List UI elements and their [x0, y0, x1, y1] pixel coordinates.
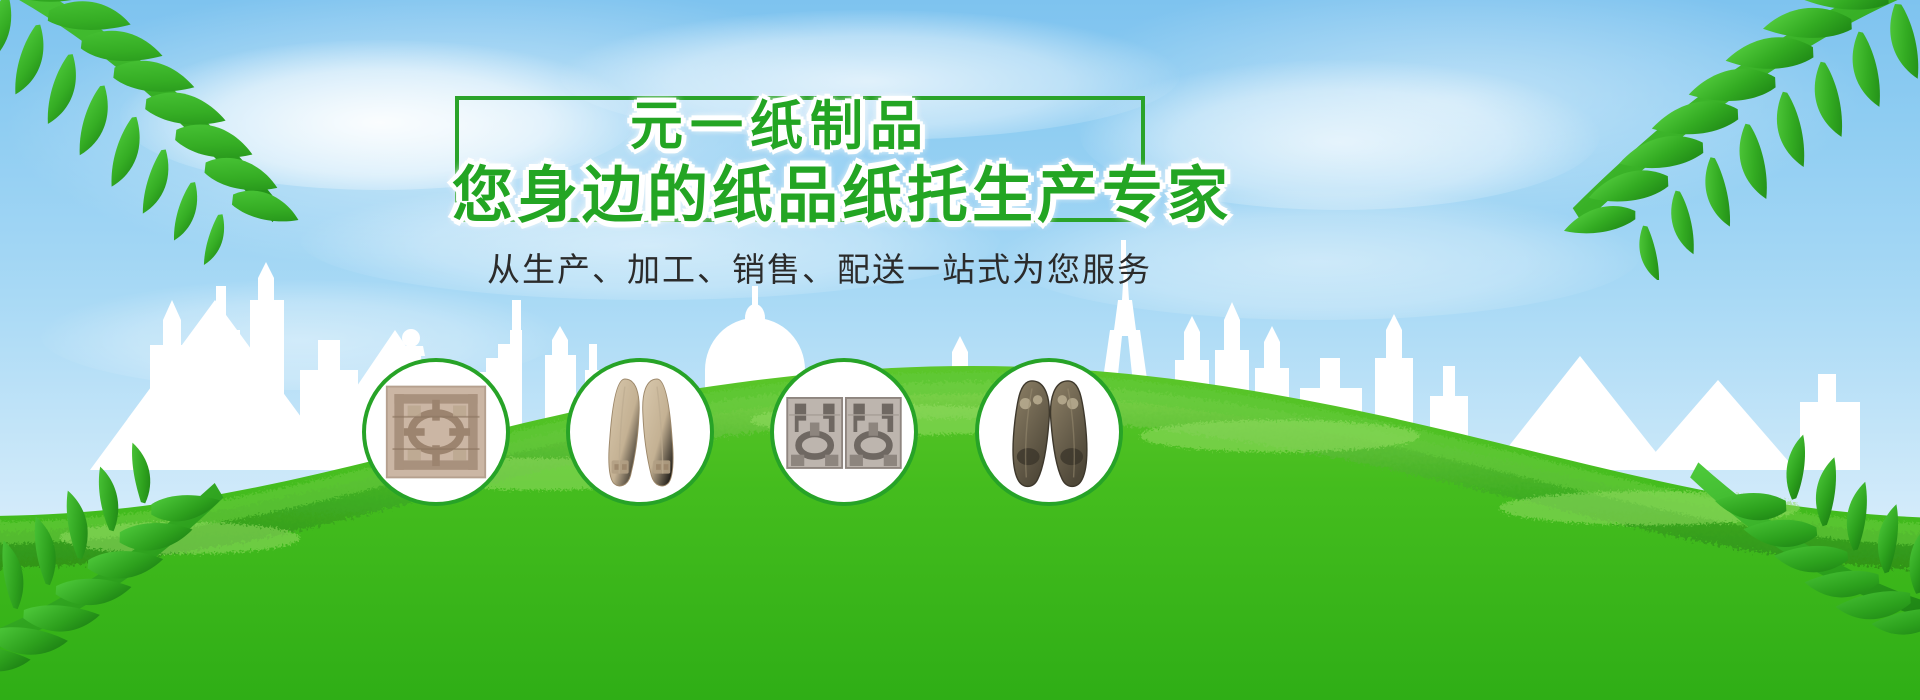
paper-pulp-shoe-mold-dark-icon — [979, 362, 1119, 502]
promo-banner: 元一纸制品 您身边的纸品纸托生产专家 从生产、加工、销售、配送一站式为您服务 — [0, 0, 1920, 700]
headline-subtitle: 从生产、加工、销售、配送一站式为您服务 — [487, 243, 1152, 291]
green-hill — [0, 270, 1920, 700]
product-circle-2[interactable] — [566, 358, 714, 506]
paper-pulp-packaging-pair-icon — [774, 362, 914, 502]
headline-line-2: 您身边的纸品纸托生产专家 — [452, 145, 1472, 234]
product-circle-1[interactable] — [362, 358, 510, 506]
product-circle-4[interactable] — [975, 358, 1123, 506]
paper-pulp-tray-square-icon — [366, 362, 506, 502]
product-circle-3[interactable] — [770, 358, 918, 506]
paper-pulp-shoe-insole-icon — [570, 362, 710, 502]
